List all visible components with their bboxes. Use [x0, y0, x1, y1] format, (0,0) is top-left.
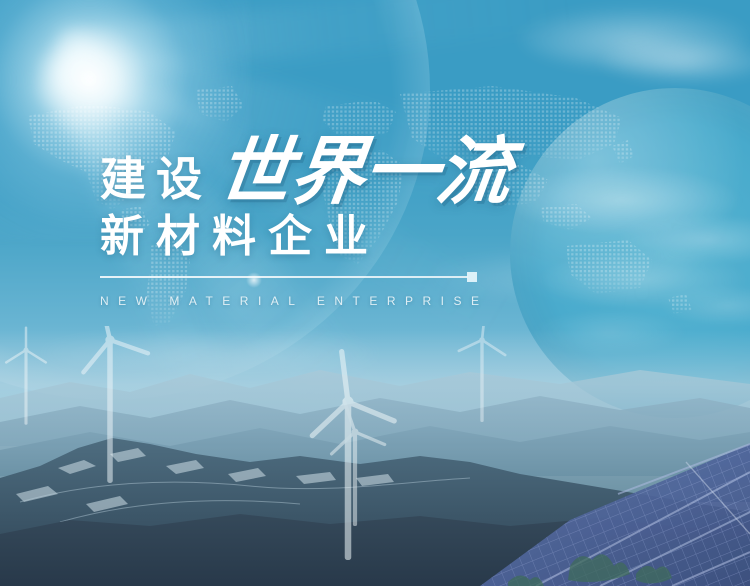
divider	[100, 276, 468, 278]
subtitle: NEW MATERIAL ENTERPRISE	[100, 294, 620, 308]
headline-emphasis: 世界一流	[214, 138, 514, 206]
divider-accent-square	[467, 272, 477, 282]
headline-block: 建设 世界一流 新材料企业 NEW MATERIAL ENTERPRISE	[100, 124, 620, 308]
headline-line-2: 新材料企业	[100, 214, 620, 260]
hero-banner: 建设 世界一流 新材料企业 NEW MATERIAL ENTERPRISE	[0, 0, 750, 586]
headline-line-1: 建设 世界一流	[100, 124, 620, 206]
solar-panel-array	[450, 416, 750, 586]
headline-prefix: 建设	[100, 156, 212, 206]
